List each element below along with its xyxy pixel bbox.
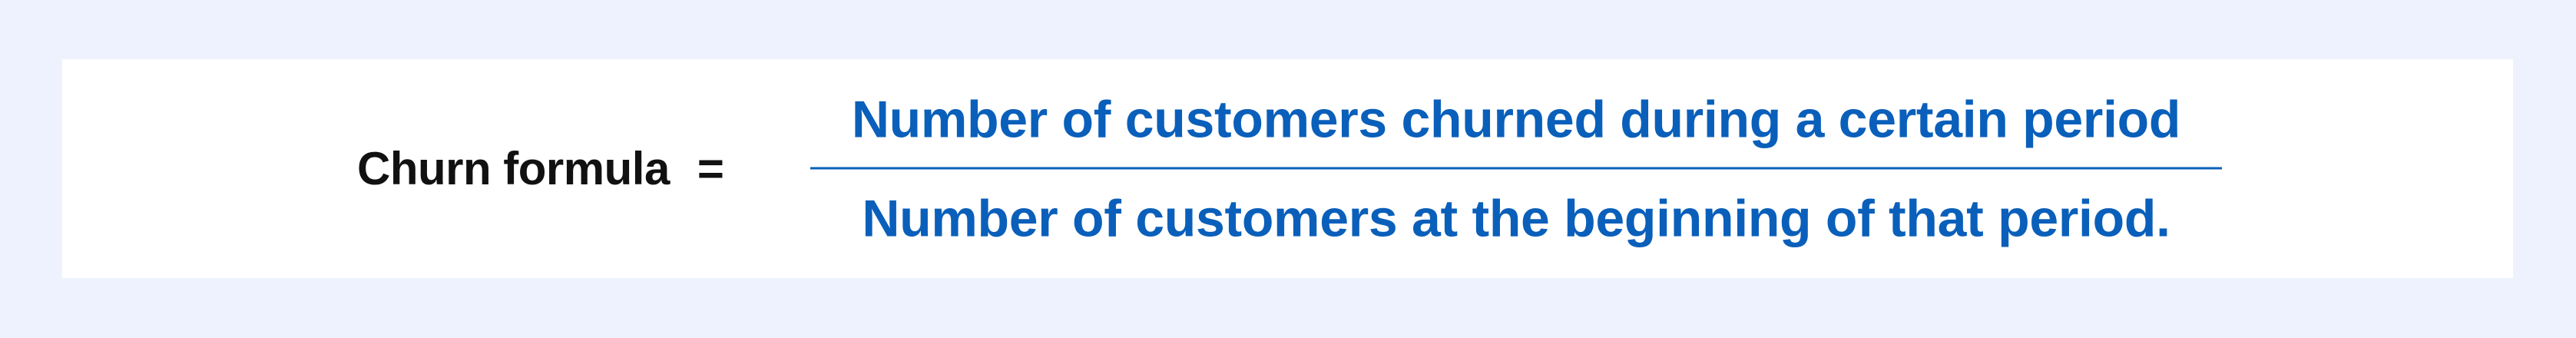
fraction-numerator: Number of customers churned during a cer… [852, 93, 2180, 167]
fraction-denominator: Number of customers at the beginning of … [862, 169, 2170, 244]
churn-formula-equation: Churn formula = Number of customers chur… [62, 59, 2513, 278]
formula-card: Churn formula = Number of customers chur… [62, 59, 2513, 278]
equation-left-side: Churn formula = [357, 146, 724, 192]
page-canvas: Churn formula = Number of customers chur… [0, 0, 2576, 338]
fraction: Number of customers churned during a cer… [810, 93, 2222, 244]
equals-sign: = [697, 146, 724, 192]
page-title: Churn formula [357, 146, 670, 192]
